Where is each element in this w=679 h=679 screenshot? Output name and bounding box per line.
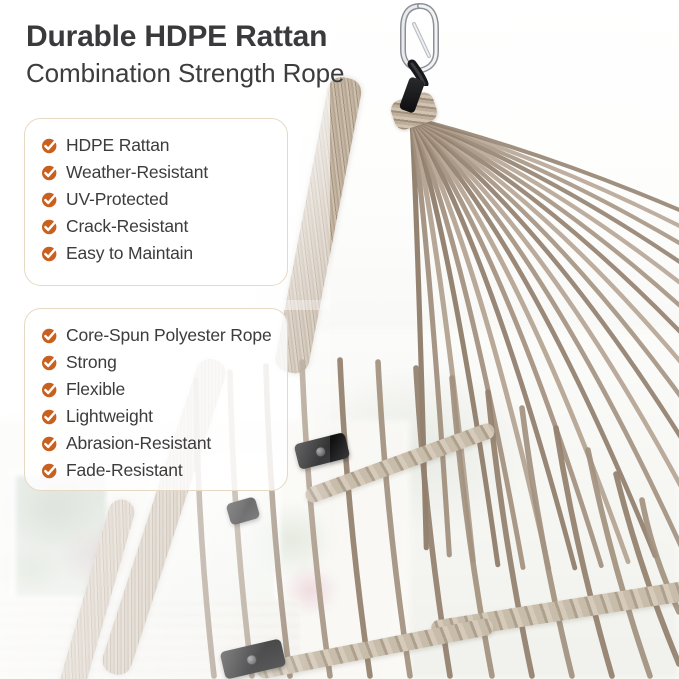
feature-item-label: Fade-Resistant: [66, 457, 183, 484]
feature-item-label: Abrasion-Resistant: [66, 430, 211, 457]
check-circle-icon: [41, 354, 58, 371]
feature-card-rope: Core-Spun Polyester RopeStrongFlexibleLi…: [24, 308, 288, 491]
check-circle-icon: [41, 327, 58, 344]
check-circle-icon: [41, 435, 58, 452]
feature-item: Abrasion-Resistant: [41, 430, 287, 457]
feature-item: UV-Protected: [41, 186, 287, 213]
check-circle-icon: [41, 245, 58, 262]
feature-item-label: Flexible: [66, 376, 125, 403]
headline-line-2: Combination Strength Rope: [26, 56, 344, 90]
feature-item: Crack-Resistant: [41, 213, 287, 240]
feature-card-materials: HDPE RattanWeather-ResistantUV-Protected…: [24, 118, 288, 286]
feature-item: Fade-Resistant: [41, 457, 287, 484]
headline-block: Durable HDPE Rattan Combination Strength…: [26, 18, 344, 90]
check-circle-icon: [41, 462, 58, 479]
feature-item: Flexible: [41, 376, 287, 403]
feature-item: Strong: [41, 349, 287, 376]
feature-list-rope: Core-Spun Polyester RopeStrongFlexibleLi…: [25, 309, 287, 484]
check-circle-icon: [41, 191, 58, 208]
check-circle-icon: [41, 408, 58, 425]
feature-item-label: HDPE Rattan: [66, 132, 169, 159]
headline-line-1: Durable HDPE Rattan: [26, 18, 344, 56]
check-circle-icon: [41, 218, 58, 235]
feature-item: Lightweight: [41, 403, 287, 430]
feature-item: Core-Spun Polyester Rope: [41, 322, 287, 349]
feature-item-label: Easy to Maintain: [66, 240, 193, 267]
check-circle-icon: [41, 381, 58, 398]
feature-item-label: Core-Spun Polyester Rope: [66, 322, 272, 349]
feature-item-label: Crack-Resistant: [66, 213, 188, 240]
feature-item-label: UV-Protected: [66, 186, 168, 213]
feature-item: HDPE Rattan: [41, 132, 287, 159]
feature-item-label: Weather-Resistant: [66, 159, 208, 186]
check-circle-icon: [41, 137, 58, 154]
feature-item: Weather-Resistant: [41, 159, 287, 186]
feature-item: Easy to Maintain: [41, 240, 287, 267]
feature-item-label: Lightweight: [66, 403, 153, 430]
check-circle-icon: [41, 164, 58, 181]
feature-list-materials: HDPE RattanWeather-ResistantUV-Protected…: [25, 119, 287, 267]
infographic-canvas: Durable HDPE Rattan Combination Strength…: [0, 0, 679, 679]
feature-item-label: Strong: [66, 349, 117, 376]
